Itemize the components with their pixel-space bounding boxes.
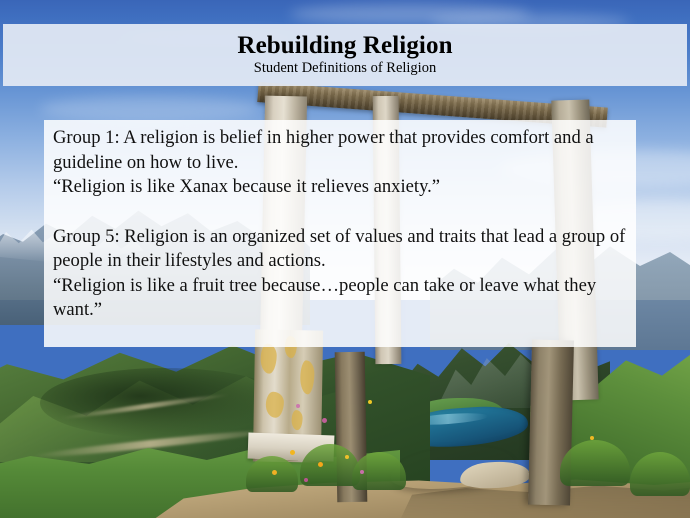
paint-peel xyxy=(260,344,277,374)
wildflower-yellow xyxy=(318,462,323,467)
wildflower-yellow xyxy=(290,450,295,455)
wildflower-pink xyxy=(322,418,327,423)
slide-canvas: Rebuilding Religion Student Definitions … xyxy=(0,0,690,518)
paint-peel xyxy=(300,360,315,394)
wildflower-pink xyxy=(304,478,308,482)
wildflower-yellow xyxy=(272,470,277,475)
page-subtitle: Student Definitions of Religion xyxy=(254,61,436,77)
wildflower-yellow xyxy=(345,455,349,459)
page-title: Rebuilding Religion xyxy=(237,33,452,59)
group-1-definition: Group 1: A religion is belief in higher … xyxy=(53,126,627,175)
definitions-text-panel: Group 1: A religion is belief in higher … xyxy=(44,120,636,347)
wildflower-pink xyxy=(296,404,300,408)
group-5-definition: Group 5: Religion is an organized set of… xyxy=(53,225,627,274)
group-5-simile: “Religion is like a fruit tree because…p… xyxy=(53,274,627,323)
cloud-wisp xyxy=(40,96,260,122)
group-1-simile: “Religion is like Xanax because it relie… xyxy=(53,175,627,200)
wildflower-pink xyxy=(360,470,364,474)
wildflower-yellow xyxy=(590,436,594,440)
wildflower-yellow xyxy=(368,400,372,404)
paint-peel xyxy=(291,410,302,430)
title-bar: Rebuilding Religion Student Definitions … xyxy=(3,24,687,86)
paint-peel xyxy=(266,392,284,418)
